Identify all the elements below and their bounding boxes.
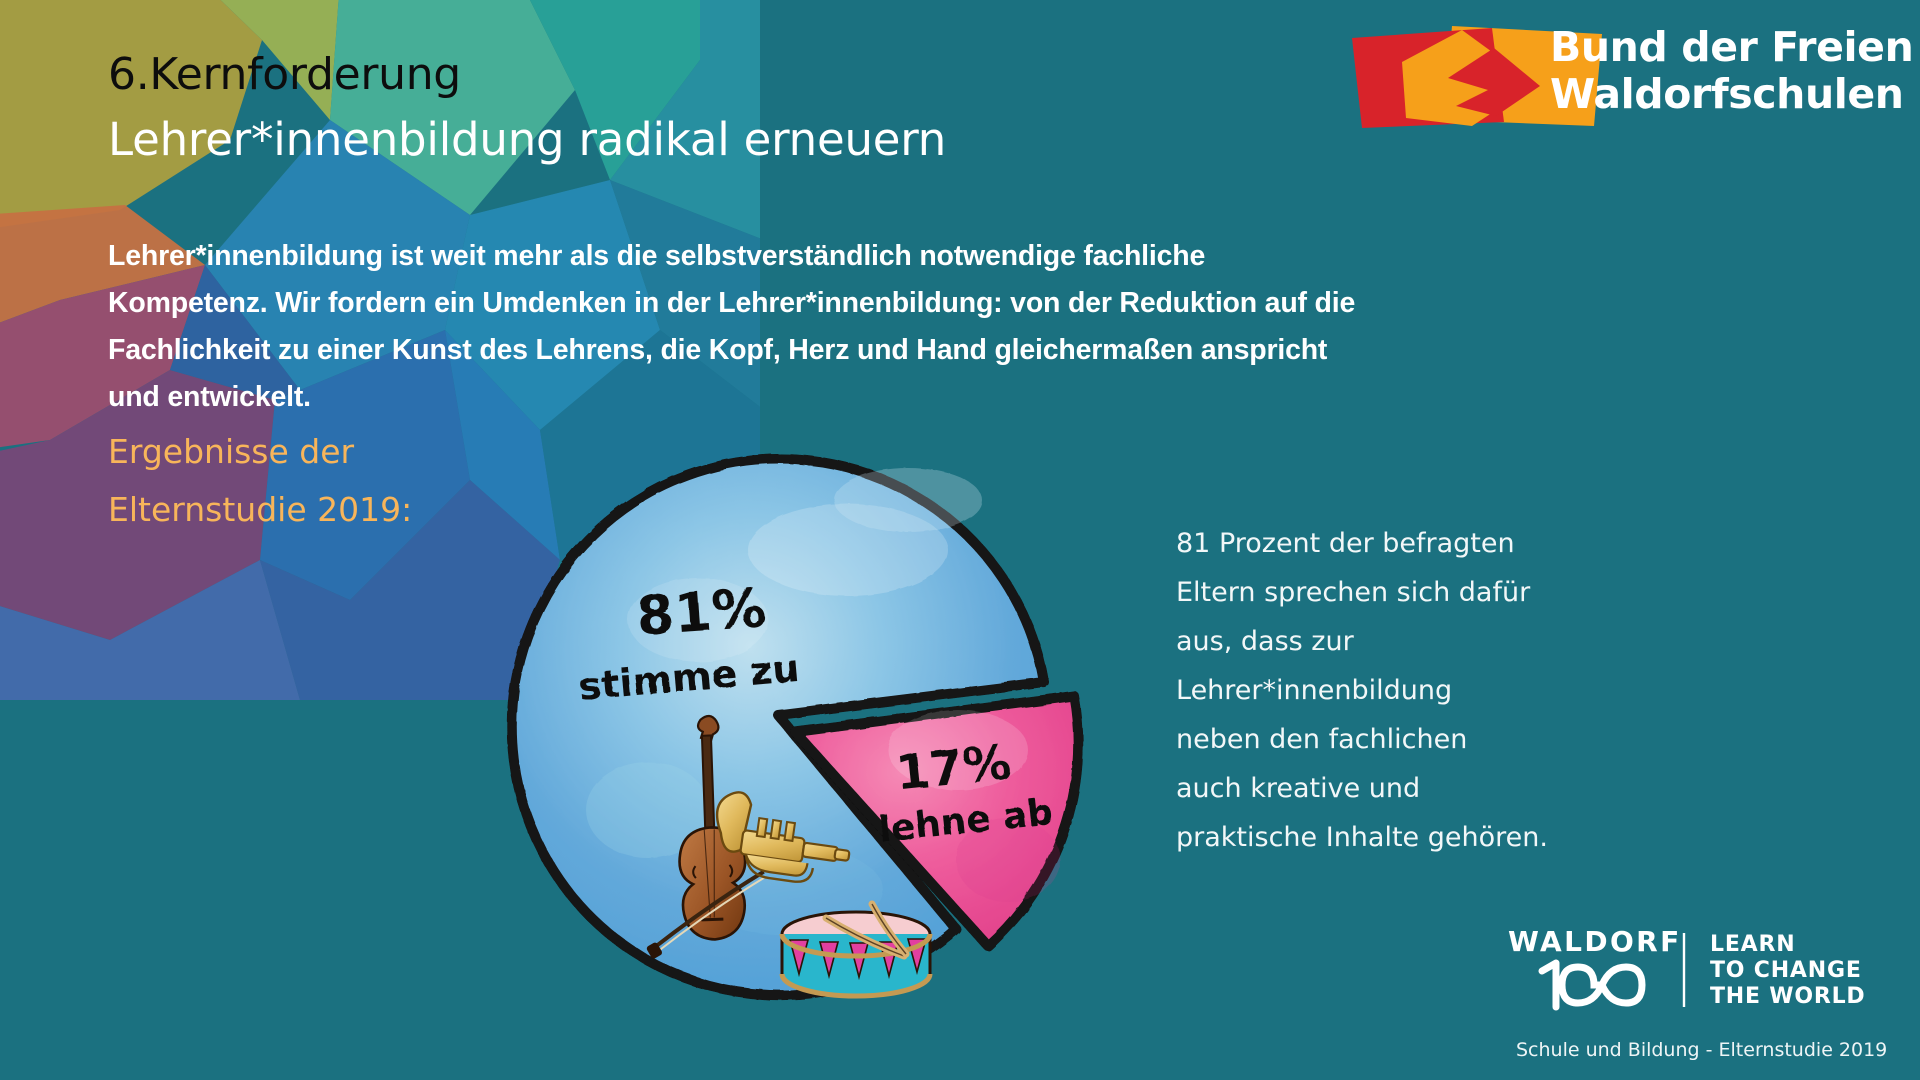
- waldorf100-wordmark: WALDORF: [1508, 925, 1682, 958]
- side-commentary-line: neben den fachlichen: [1176, 715, 1616, 764]
- study-results-line: Elternstudie 2019:: [108, 481, 412, 539]
- side-commentary-line: Lehrer*innenbildung: [1176, 666, 1616, 715]
- waldorf100-number-icon: [1542, 963, 1642, 1007]
- svg-text:17%: 17%: [893, 734, 1013, 802]
- study-results-label: Ergebnisse der Elternstudie 2019:: [108, 423, 412, 539]
- side-commentary-line: Eltern sprechen sich dafür: [1176, 568, 1616, 617]
- side-commentary-line: aus, dass zur: [1176, 617, 1616, 666]
- lede-paragraph: Lehrer*innenbildung ist weit mehr als di…: [108, 233, 1608, 421]
- slide-canvas: 6.Kernforderung Lehrer*innenbildung radi…: [0, 0, 1920, 1080]
- pie-chart-illustration: 81% stimme zu 17% lehne ab: [488, 410, 1148, 1020]
- waldorf100-tagline-line2: TO CHANGE: [1710, 958, 1862, 983]
- lede-line: Lehrer*innenbildung ist weit mehr als di…: [108, 233, 1608, 280]
- page-kicker: 6.Kernforderung: [108, 52, 461, 98]
- side-commentary-line: 81 Prozent der befragten: [1176, 519, 1616, 568]
- page-title: Lehrer*innenbildung radikal erneuern: [108, 116, 946, 163]
- footer-source-note: Schule und Bildung - Elternstudie 2019: [1516, 1039, 1887, 1061]
- brand-wordmark-line2: Waldorfschulen: [1550, 71, 1913, 118]
- waldorf100-logo: WALDORF LEARN TO CHANGE THE WORLD: [1508, 925, 1898, 1015]
- drum-icon: [782, 904, 930, 996]
- lede-line: Kompetenz. Wir fordern ein Umdenken in d…: [108, 280, 1608, 327]
- lede-line: Fachlichkeit zu einer Kunst des Lehrens,…: [108, 327, 1608, 374]
- side-commentary: 81 Prozent der befragten Eltern sprechen…: [1176, 519, 1616, 862]
- svg-text:81%: 81%: [635, 576, 768, 648]
- brand-wordmark-line1: Bund der Freien: [1550, 24, 1913, 71]
- study-results-line: Ergebnisse der: [108, 423, 412, 481]
- waldorf100-tagline-line1: LEARN: [1710, 932, 1795, 957]
- side-commentary-line: auch kreative und: [1176, 764, 1616, 813]
- side-commentary-line: praktische Inhalte gehören.: [1176, 813, 1616, 862]
- waldorf100-tagline-line3: THE WORLD: [1710, 984, 1866, 1009]
- brand-wordmark: Bund der Freien Waldorfschulen: [1550, 24, 1913, 118]
